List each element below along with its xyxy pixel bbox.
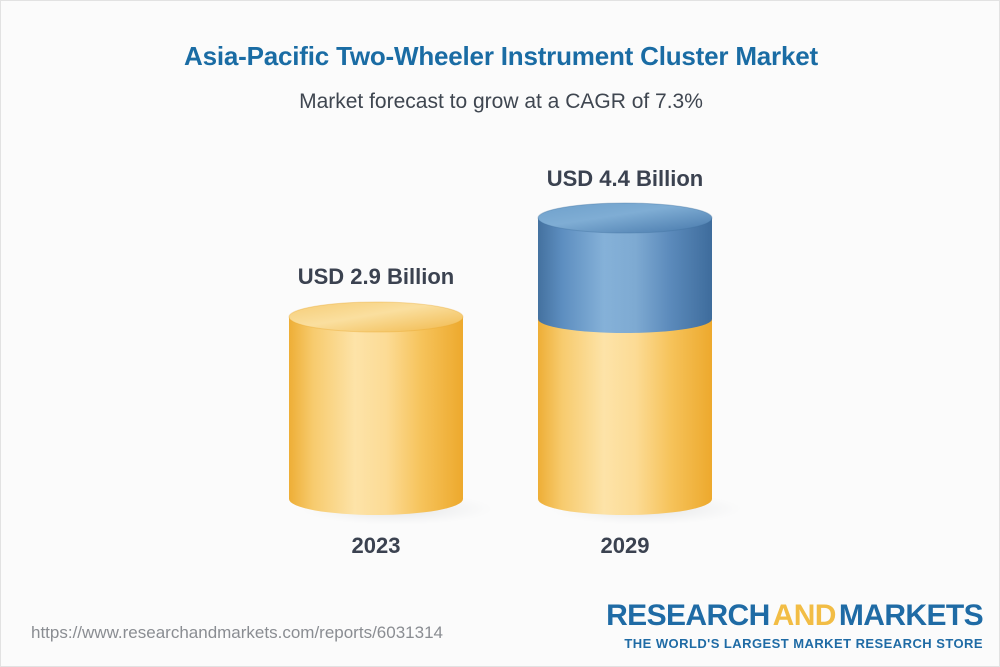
brand-tagline: THE WORLD'S LARGEST MARKET RESEARCH STOR… <box>606 637 983 650</box>
bar-value-label-2023: USD 2.9 Billion <box>249 264 503 290</box>
bar-value-label-2029: USD 4.4 Billion <box>498 166 752 192</box>
cylinder-2023-graphic <box>289 303 463 525</box>
cylinder-2029[interactable] <box>538 204 712 525</box>
cylinder-2029-graphic <box>538 204 712 525</box>
bar-category-label-2023: 2023 <box>249 533 503 559</box>
brand-word-and: AND <box>773 599 836 632</box>
brand-word-markets: MARKETS <box>839 599 983 632</box>
bar-category-label-2029: 2029 <box>498 533 752 559</box>
source-url[interactable]: https://www.researchandmarkets.com/repor… <box>31 623 443 643</box>
brand-wordmark: RESEARCHANDMARKETS <box>606 601 983 631</box>
plot-area: USD 2.9 Billion <box>1 1 1000 601</box>
chart-canvas: Asia-Pacific Two-Wheeler Instrument Clus… <box>0 0 1000 667</box>
brand-word-research: RESEARCH <box>606 599 770 632</box>
brand-logo[interactable]: RESEARCHANDMARKETS THE WORLD'S LARGEST M… <box>606 601 983 650</box>
cylinder-2023[interactable] <box>289 303 463 525</box>
